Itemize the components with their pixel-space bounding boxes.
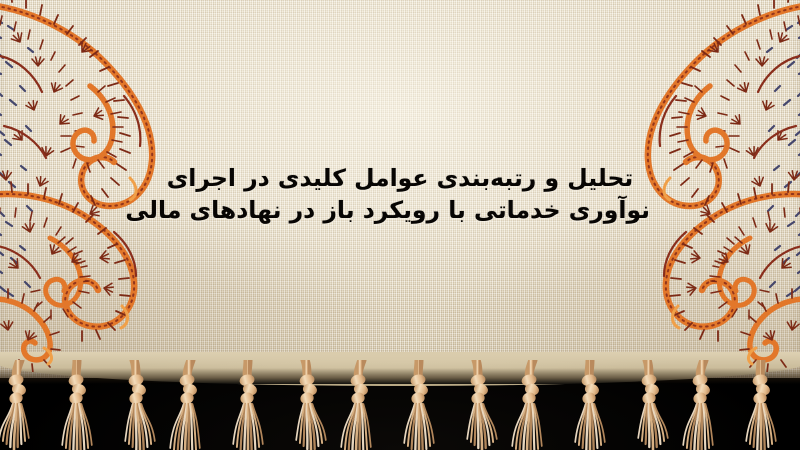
tassel bbox=[112, 360, 156, 450]
tassel bbox=[511, 360, 555, 450]
title-line-2: نوآوری خدماتی با رویکرد باز در نهادهای م… bbox=[150, 194, 650, 226]
tassel bbox=[283, 360, 327, 450]
tassel bbox=[454, 360, 498, 450]
tassel bbox=[739, 360, 783, 450]
tassel bbox=[0, 360, 42, 450]
tassel bbox=[568, 360, 612, 450]
title-card-canvas: تحلیل و رتبه‌بندی عوامل کلیدی در اجرای ن… bbox=[0, 0, 800, 450]
tassel bbox=[397, 360, 441, 450]
knotted-tassel-fringe bbox=[0, 360, 800, 450]
tassel bbox=[625, 360, 669, 450]
title-line-1: تحلیل و رتبه‌بندی عوامل کلیدی در اجرای bbox=[150, 162, 650, 194]
tassel bbox=[55, 360, 99, 450]
tassel bbox=[226, 360, 270, 450]
tassel bbox=[682, 360, 726, 450]
tassel bbox=[340, 360, 384, 450]
page-title: تحلیل و رتبه‌بندی عوامل کلیدی در اجرای ن… bbox=[150, 162, 650, 227]
tassel bbox=[169, 360, 213, 450]
